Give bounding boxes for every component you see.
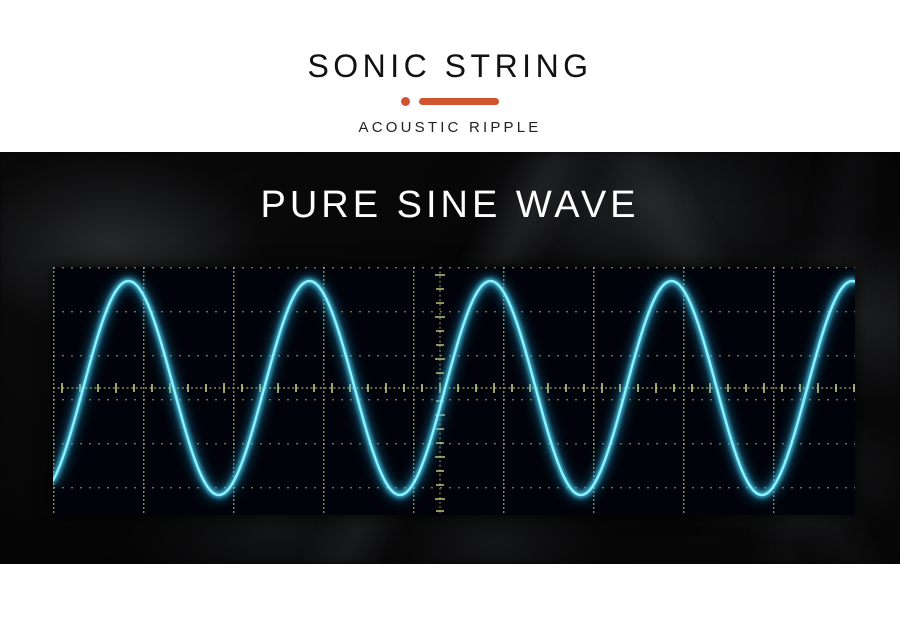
- hero-section: PURE SINE WAVE: [0, 152, 900, 564]
- page-title: SONIC STRING: [307, 50, 592, 82]
- divider-dot-icon: [401, 97, 410, 106]
- hero-heading: PURE SINE WAVE: [0, 186, 900, 224]
- footer-band: [0, 564, 900, 625]
- sine-wave-chart: [53, 267, 855, 515]
- title-divider: [390, 97, 510, 106]
- divider-bar-icon: [419, 98, 499, 105]
- header-band: SONIC STRING ACOUSTIC RIPPLE: [0, 0, 900, 152]
- oscilloscope-display: [53, 267, 855, 515]
- page-subtitle: ACOUSTIC RIPPLE: [358, 120, 541, 135]
